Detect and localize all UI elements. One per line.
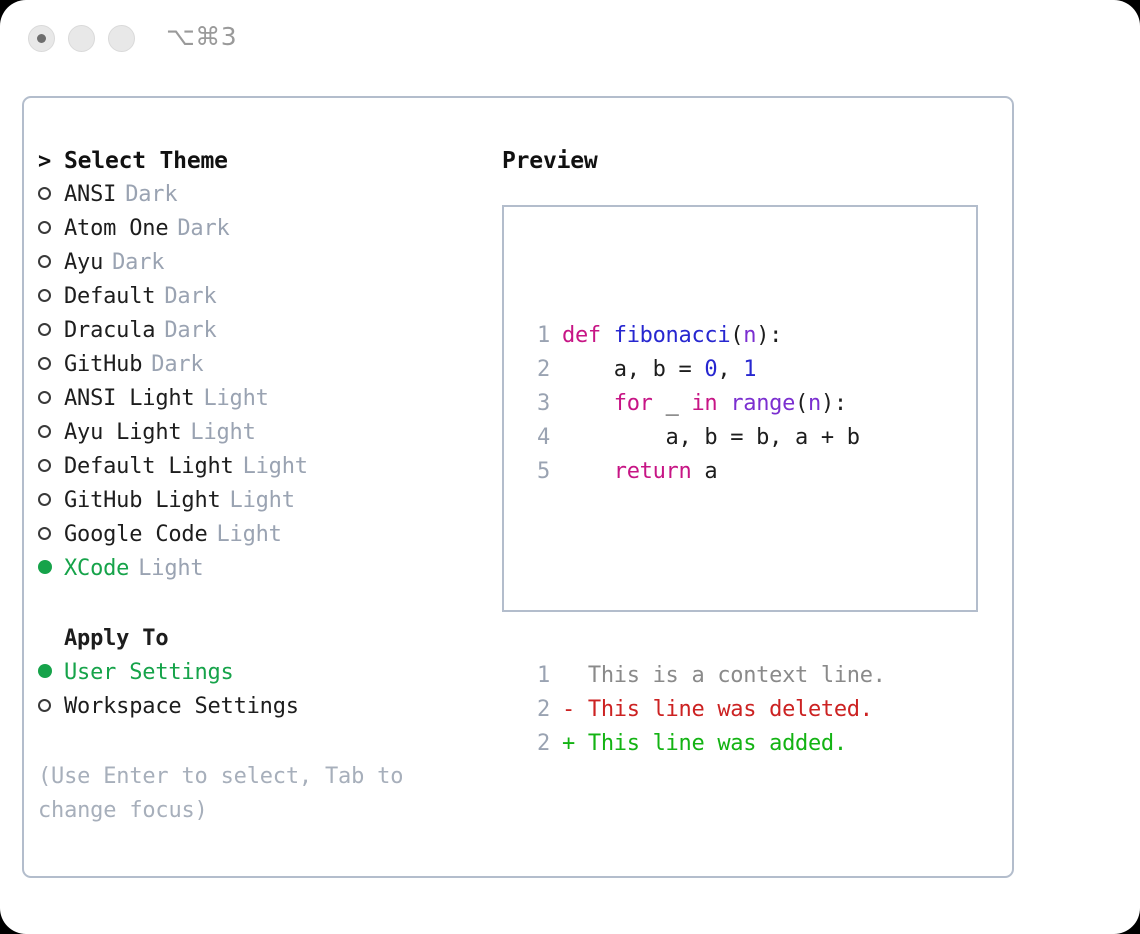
theme-option-variant-tag: Dark bbox=[164, 314, 216, 348]
radio-unselected-icon bbox=[38, 450, 64, 484]
code-preview-area: 1def fibonacci(n):2 a, b = 0, 13 for _ i… bbox=[516, 251, 886, 829]
code-token-num: 1 bbox=[743, 357, 756, 382]
code-token-plain: ): bbox=[756, 323, 782, 348]
apply-to-options-list: User SettingsWorkspace Settings bbox=[38, 656, 478, 724]
close-button[interactable] bbox=[28, 25, 55, 52]
theme-option-variant-tag: Dark bbox=[164, 280, 216, 314]
code-token-plain: , bbox=[717, 357, 743, 382]
theme-selector-panel: > Select Theme ANSIDarkAtom OneDarkAyuDa… bbox=[22, 96, 1014, 878]
theme-option-variant-tag: Dark bbox=[112, 246, 164, 280]
diff-line: 2- This line was deleted. bbox=[516, 693, 886, 727]
apply-to-option-name: User Settings bbox=[64, 656, 234, 690]
apply-to-heading: Apply To bbox=[38, 622, 478, 656]
keyboard-shortcut-label: ⌥⌘3 bbox=[166, 22, 237, 51]
radio-unselected-icon bbox=[38, 246, 64, 280]
theme-option-row[interactable]: GitHub LightLight bbox=[38, 484, 478, 518]
section-spacer bbox=[38, 586, 478, 622]
diff-line-number: 2 bbox=[516, 693, 550, 727]
select-theme-heading: > Select Theme bbox=[38, 144, 478, 178]
code-line: 1def fibonacci(n): bbox=[516, 319, 886, 353]
theme-option-variant-tag: Dark bbox=[151, 348, 203, 382]
preview-box: 1def fibonacci(n):2 a, b = 0, 13 for _ i… bbox=[502, 205, 978, 612]
title-bar: ⌥⌘3 bbox=[0, 0, 1140, 78]
theme-options-list: ANSIDarkAtom OneDarkAyuDarkDefaultDarkDr… bbox=[38, 178, 478, 586]
apply-to-option-name: Workspace Settings bbox=[64, 690, 299, 724]
theme-option-variant-tag: Light bbox=[138, 552, 203, 586]
code-token-num: 0 bbox=[704, 357, 717, 382]
keyboard-hint-text: (Use Enter to select, Tab to change focu… bbox=[38, 760, 438, 828]
diff-line-number: 2 bbox=[516, 727, 550, 761]
radio-unselected-icon bbox=[38, 212, 64, 246]
radio-unselected-icon bbox=[38, 280, 64, 314]
diff-line-number: 1 bbox=[516, 659, 550, 693]
code-diff-separator bbox=[516, 557, 886, 591]
diff-line-content: - This line was deleted. bbox=[562, 693, 873, 727]
diff-line: 2+ This line was added. bbox=[516, 727, 886, 761]
theme-option-row[interactable]: DefaultDark bbox=[38, 280, 478, 314]
code-token-plain: ): bbox=[821, 391, 847, 416]
theme-option-row[interactable]: DraculaDark bbox=[38, 314, 478, 348]
apply-to-option-row[interactable]: User Settings bbox=[38, 656, 478, 690]
radio-unselected-icon bbox=[38, 690, 64, 724]
theme-list-column: > Select Theme ANSIDarkAtom OneDarkAyuDa… bbox=[38, 144, 478, 828]
code-line-number: 2 bbox=[516, 353, 550, 387]
theme-option-name: Ayu Light bbox=[64, 416, 181, 450]
code-lines-group: 1def fibonacci(n):2 a, b = 0, 13 for _ i… bbox=[516, 319, 886, 489]
code-token-kw: for bbox=[614, 391, 653, 416]
radio-selected-icon bbox=[38, 656, 64, 690]
code-token-kw: in bbox=[691, 391, 717, 416]
code-token-plain: ( bbox=[795, 391, 808, 416]
theme-option-name: Default bbox=[64, 280, 155, 314]
code-token-param: n bbox=[808, 391, 821, 416]
code-line-content: return a bbox=[562, 455, 717, 489]
code-token-kw: return bbox=[614, 459, 692, 484]
select-theme-heading-label: Select Theme bbox=[64, 144, 228, 178]
theme-option-row[interactable]: Default LightLight bbox=[38, 450, 478, 484]
caret-icon: > bbox=[38, 145, 64, 179]
theme-option-variant-tag: Dark bbox=[125, 178, 177, 212]
code-line: 5 return a bbox=[516, 455, 886, 489]
theme-option-row[interactable]: Ayu LightLight bbox=[38, 416, 478, 450]
radio-selected-icon bbox=[38, 552, 64, 586]
apply-to-heading-label: Apply To bbox=[64, 622, 168, 656]
radio-unselected-icon bbox=[38, 484, 64, 518]
app-window: ⌥⌘3 > Select Theme ANSIDarkAtom OneDarkA… bbox=[0, 0, 1140, 934]
theme-option-name: Ayu bbox=[64, 246, 103, 280]
code-token-plain bbox=[717, 391, 730, 416]
theme-option-variant-tag: Dark bbox=[177, 212, 229, 246]
code-token-plain: a, b = bbox=[562, 357, 704, 382]
theme-option-name: XCode bbox=[64, 552, 129, 586]
radio-unselected-icon bbox=[38, 314, 64, 348]
code-line-number: 4 bbox=[516, 421, 550, 455]
theme-option-row[interactable]: Google CodeLight bbox=[38, 518, 478, 552]
theme-option-name: GitHub bbox=[64, 348, 142, 382]
code-token-plain: ( bbox=[730, 323, 743, 348]
code-token-kw: def bbox=[562, 323, 614, 348]
theme-option-name: Default Light bbox=[64, 450, 234, 484]
code-line-number: 5 bbox=[516, 455, 550, 489]
window-controls bbox=[28, 25, 135, 52]
radio-unselected-icon bbox=[38, 518, 64, 552]
code-token-fn: fibonacci bbox=[614, 323, 731, 348]
theme-option-row[interactable]: Atom OneDark bbox=[38, 212, 478, 246]
theme-option-row[interactable]: ANSIDark bbox=[38, 178, 478, 212]
theme-option-variant-tag: Light bbox=[203, 382, 268, 416]
diff-lines-group: 1 This is a context line.2- This line wa… bbox=[516, 659, 886, 761]
theme-option-name: Dracula bbox=[64, 314, 155, 348]
code-token-plain bbox=[562, 459, 614, 484]
code-line: 2 a, b = 0, 1 bbox=[516, 353, 886, 387]
code-token-plain: _ bbox=[653, 391, 692, 416]
code-line: 4 a, b = b, a + b bbox=[516, 421, 886, 455]
code-line-content: a, b = 0, 1 bbox=[562, 353, 756, 387]
radio-unselected-icon bbox=[38, 416, 64, 450]
code-line-content: a, b = b, a + b bbox=[562, 421, 860, 455]
theme-option-name: ANSI bbox=[64, 178, 116, 212]
apply-to-option-row[interactable]: Workspace Settings bbox=[38, 690, 478, 724]
theme-option-variant-tag: Light bbox=[230, 484, 295, 518]
diff-line-content: + This line was added. bbox=[562, 727, 847, 761]
close-dot-icon bbox=[37, 34, 46, 43]
radio-unselected-icon bbox=[38, 348, 64, 382]
theme-option-name: GitHub Light bbox=[64, 484, 221, 518]
code-token-param: n bbox=[743, 323, 756, 348]
code-token-plain: a, b = b, a + b bbox=[562, 425, 860, 450]
code-token-plain bbox=[562, 391, 614, 416]
radio-unselected-icon bbox=[38, 382, 64, 416]
code-token-builtin: range bbox=[730, 391, 795, 416]
theme-option-name: Google Code bbox=[64, 518, 208, 552]
theme-option-variant-tag: Light bbox=[243, 450, 308, 484]
minimize-button[interactable] bbox=[68, 25, 95, 52]
code-line: 3 for _ in range(n): bbox=[516, 387, 886, 421]
theme-option-variant-tag: Light bbox=[217, 518, 282, 552]
theme-option-row[interactable]: GitHubDark bbox=[38, 348, 478, 382]
code-line-number: 3 bbox=[516, 387, 550, 421]
code-line-content: for _ in range(n): bbox=[562, 387, 847, 421]
preview-column: Preview bbox=[502, 144, 1002, 178]
maximize-button[interactable] bbox=[108, 25, 135, 52]
code-line-content: def fibonacci(n): bbox=[562, 319, 782, 353]
code-line-number: 1 bbox=[516, 319, 550, 353]
theme-option-variant-tag: Light bbox=[190, 416, 255, 450]
theme-option-row[interactable]: XCodeLight bbox=[38, 552, 478, 586]
code-token-plain: a bbox=[691, 459, 717, 484]
theme-option-row[interactable]: AyuDark bbox=[38, 246, 478, 280]
preview-heading-label: Preview bbox=[502, 144, 1002, 178]
diff-line-content: This is a context line. bbox=[562, 659, 886, 693]
radio-unselected-icon bbox=[38, 178, 64, 212]
theme-option-row[interactable]: ANSI LightLight bbox=[38, 382, 478, 416]
diff-line: 1 This is a context line. bbox=[516, 659, 886, 693]
theme-option-name: ANSI Light bbox=[64, 382, 194, 416]
theme-option-name: Atom One bbox=[64, 212, 168, 246]
